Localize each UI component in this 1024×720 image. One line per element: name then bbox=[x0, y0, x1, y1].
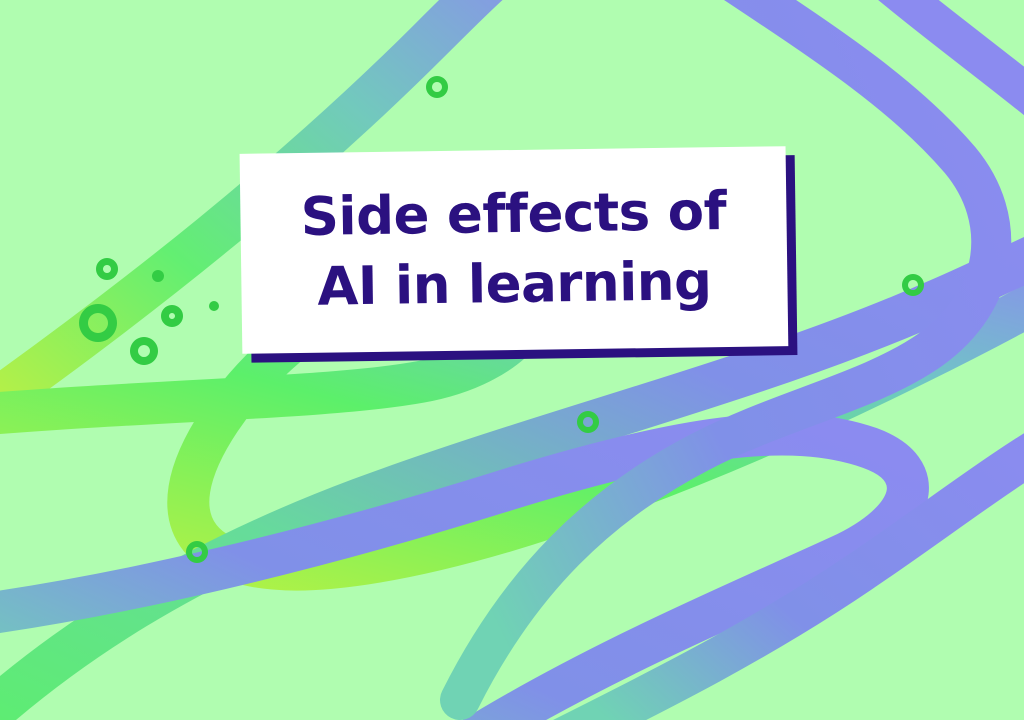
background-artwork bbox=[0, 0, 1024, 720]
green-dot bbox=[152, 270, 164, 282]
page-title-line-1: Side effects of bbox=[300, 177, 726, 253]
green-dot bbox=[209, 301, 219, 311]
title-card: Side effects of AI in learning bbox=[240, 146, 789, 362]
title-card-surface: Side effects of AI in learning bbox=[240, 146, 789, 354]
poster-canvas: Side effects of AI in learning bbox=[0, 0, 1024, 720]
page-title-line-2: AI in learning bbox=[317, 247, 712, 323]
